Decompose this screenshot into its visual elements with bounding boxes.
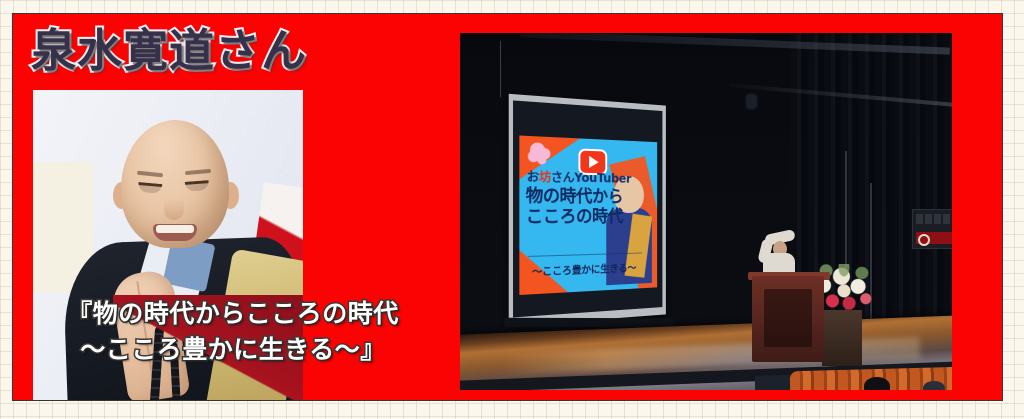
- caption-line-1: 『物の時代からこころの時代: [67, 299, 399, 328]
- slide-main-title-line-1: 物の時代から: [526, 186, 623, 207]
- speaker-name: 泉水寛道さん: [31, 22, 307, 80]
- portrait-teeth: [156, 225, 194, 233]
- venue-photo: お坊さんYouTuber 物の時代から こころの時代 ～こころ豊かに生きる～: [460, 33, 952, 390]
- audience-head-silhouette-secondary: [923, 381, 945, 390]
- slide-subtitle-accent: 坊: [539, 170, 551, 185]
- caption-line-2: ～こころ豊かに生きる～』: [23, 332, 443, 368]
- presentation-slide: お坊さんYouTuber 物の時代から こころの時代 ～こころ豊かに生きる～: [519, 136, 657, 295]
- wall-sign-panel: [912, 209, 952, 249]
- stage-spotlight: [747, 95, 756, 108]
- slide-subtitle-line: お坊さんYouTuber: [527, 167, 631, 186]
- flower-stand: [822, 310, 862, 366]
- no-smoking-placard-icon: [916, 232, 952, 244]
- slide-main-title: 物の時代から こころの時代: [526, 186, 623, 228]
- portrait-mouth: [153, 224, 197, 241]
- page-root: 泉水寛道さん: [0, 0, 1024, 419]
- slide-subtitle-suffix: さんYouTuber: [551, 170, 631, 186]
- projection-screen-surface: お坊さんYouTuber 物の時代から こころの時代 ～こころ豊かに生きる～: [513, 100, 662, 317]
- audience-head-silhouette: [864, 377, 890, 390]
- sakura-blossom-icon: [530, 142, 545, 158]
- podium-front-panel: [764, 289, 812, 347]
- ceiling-wire: [500, 41, 501, 97]
- portrait-nose: [164, 190, 184, 220]
- slide-main-title-line-2: こころの時代: [526, 207, 623, 228]
- slide-subtitle-prefix: お: [527, 169, 539, 184]
- wall-sign-switch-row: [916, 214, 952, 224]
- projection-screen-bottom-bar: [504, 318, 673, 328]
- feature-red-panel: 泉水寛道さん: [13, 14, 1002, 400]
- projection-screen: お坊さんYouTuber 物の時代から こころの時代 ～こころ豊かに生きる～: [509, 94, 666, 326]
- lecture-title-caption: 『物の時代からこころの時代 ～こころ豊かに生きる～』: [23, 296, 443, 368]
- speaker-profile-block: 泉水寛道さん: [13, 14, 453, 400]
